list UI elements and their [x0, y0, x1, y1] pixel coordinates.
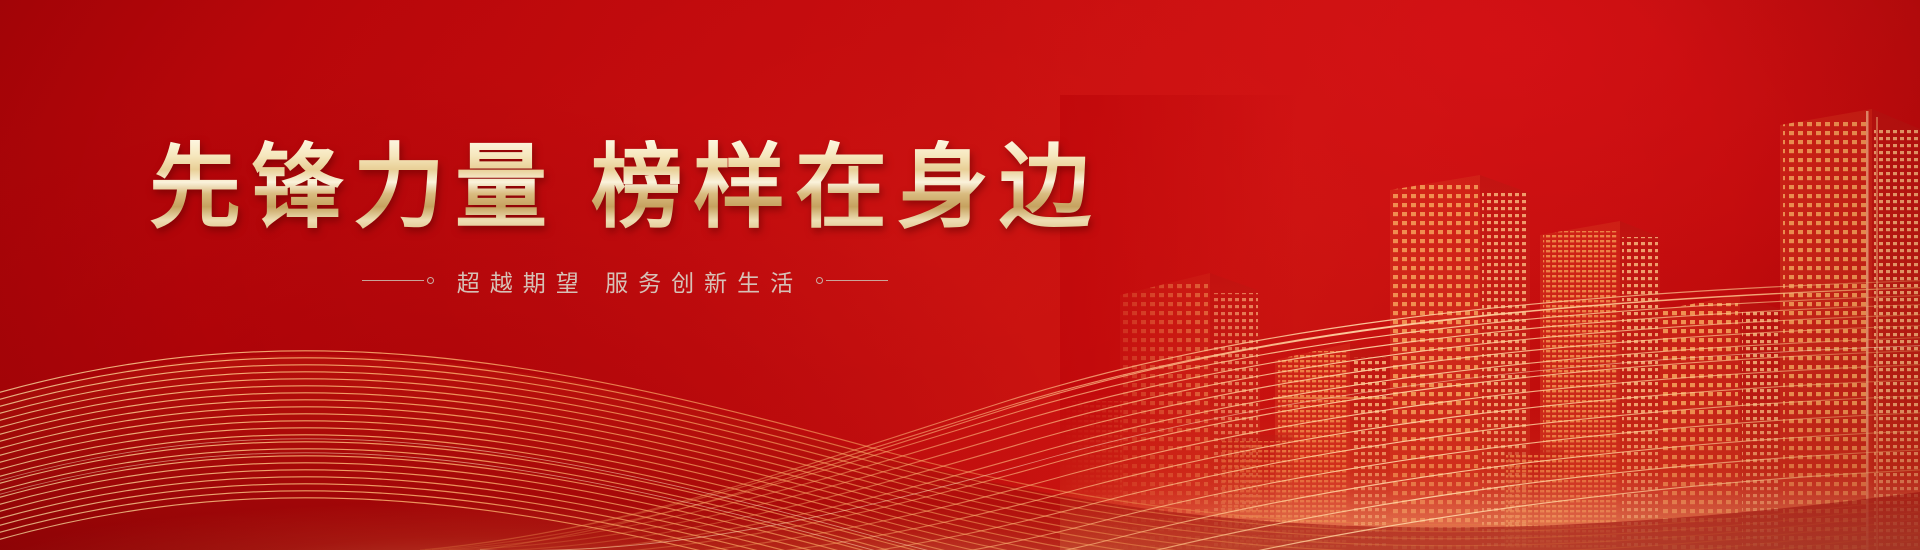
circle-left-icon [427, 277, 434, 284]
headline-block: 先锋力量榜样在身边 超越期望 服务创新生活 [0, 140, 1240, 298]
subtitle-text: 超越期望 服务创新生活 [447, 264, 803, 298]
ornament-left [362, 277, 434, 284]
subtitle-row: 超越期望 服务创新生活 [0, 264, 1240, 298]
dash-left-icon [362, 280, 424, 281]
circle-right-icon [816, 277, 823, 284]
ornament-right [816, 277, 888, 284]
headline-part-2: 榜样在身边 [591, 137, 1101, 239]
dash-right-icon [826, 280, 888, 281]
page-title: 先锋力量榜样在身边 [0, 140, 1240, 238]
banner-canvas: 先锋力量榜样在身边 超越期望 服务创新生活 [0, 0, 1920, 550]
headline-part-1: 先锋力量 [149, 137, 557, 239]
